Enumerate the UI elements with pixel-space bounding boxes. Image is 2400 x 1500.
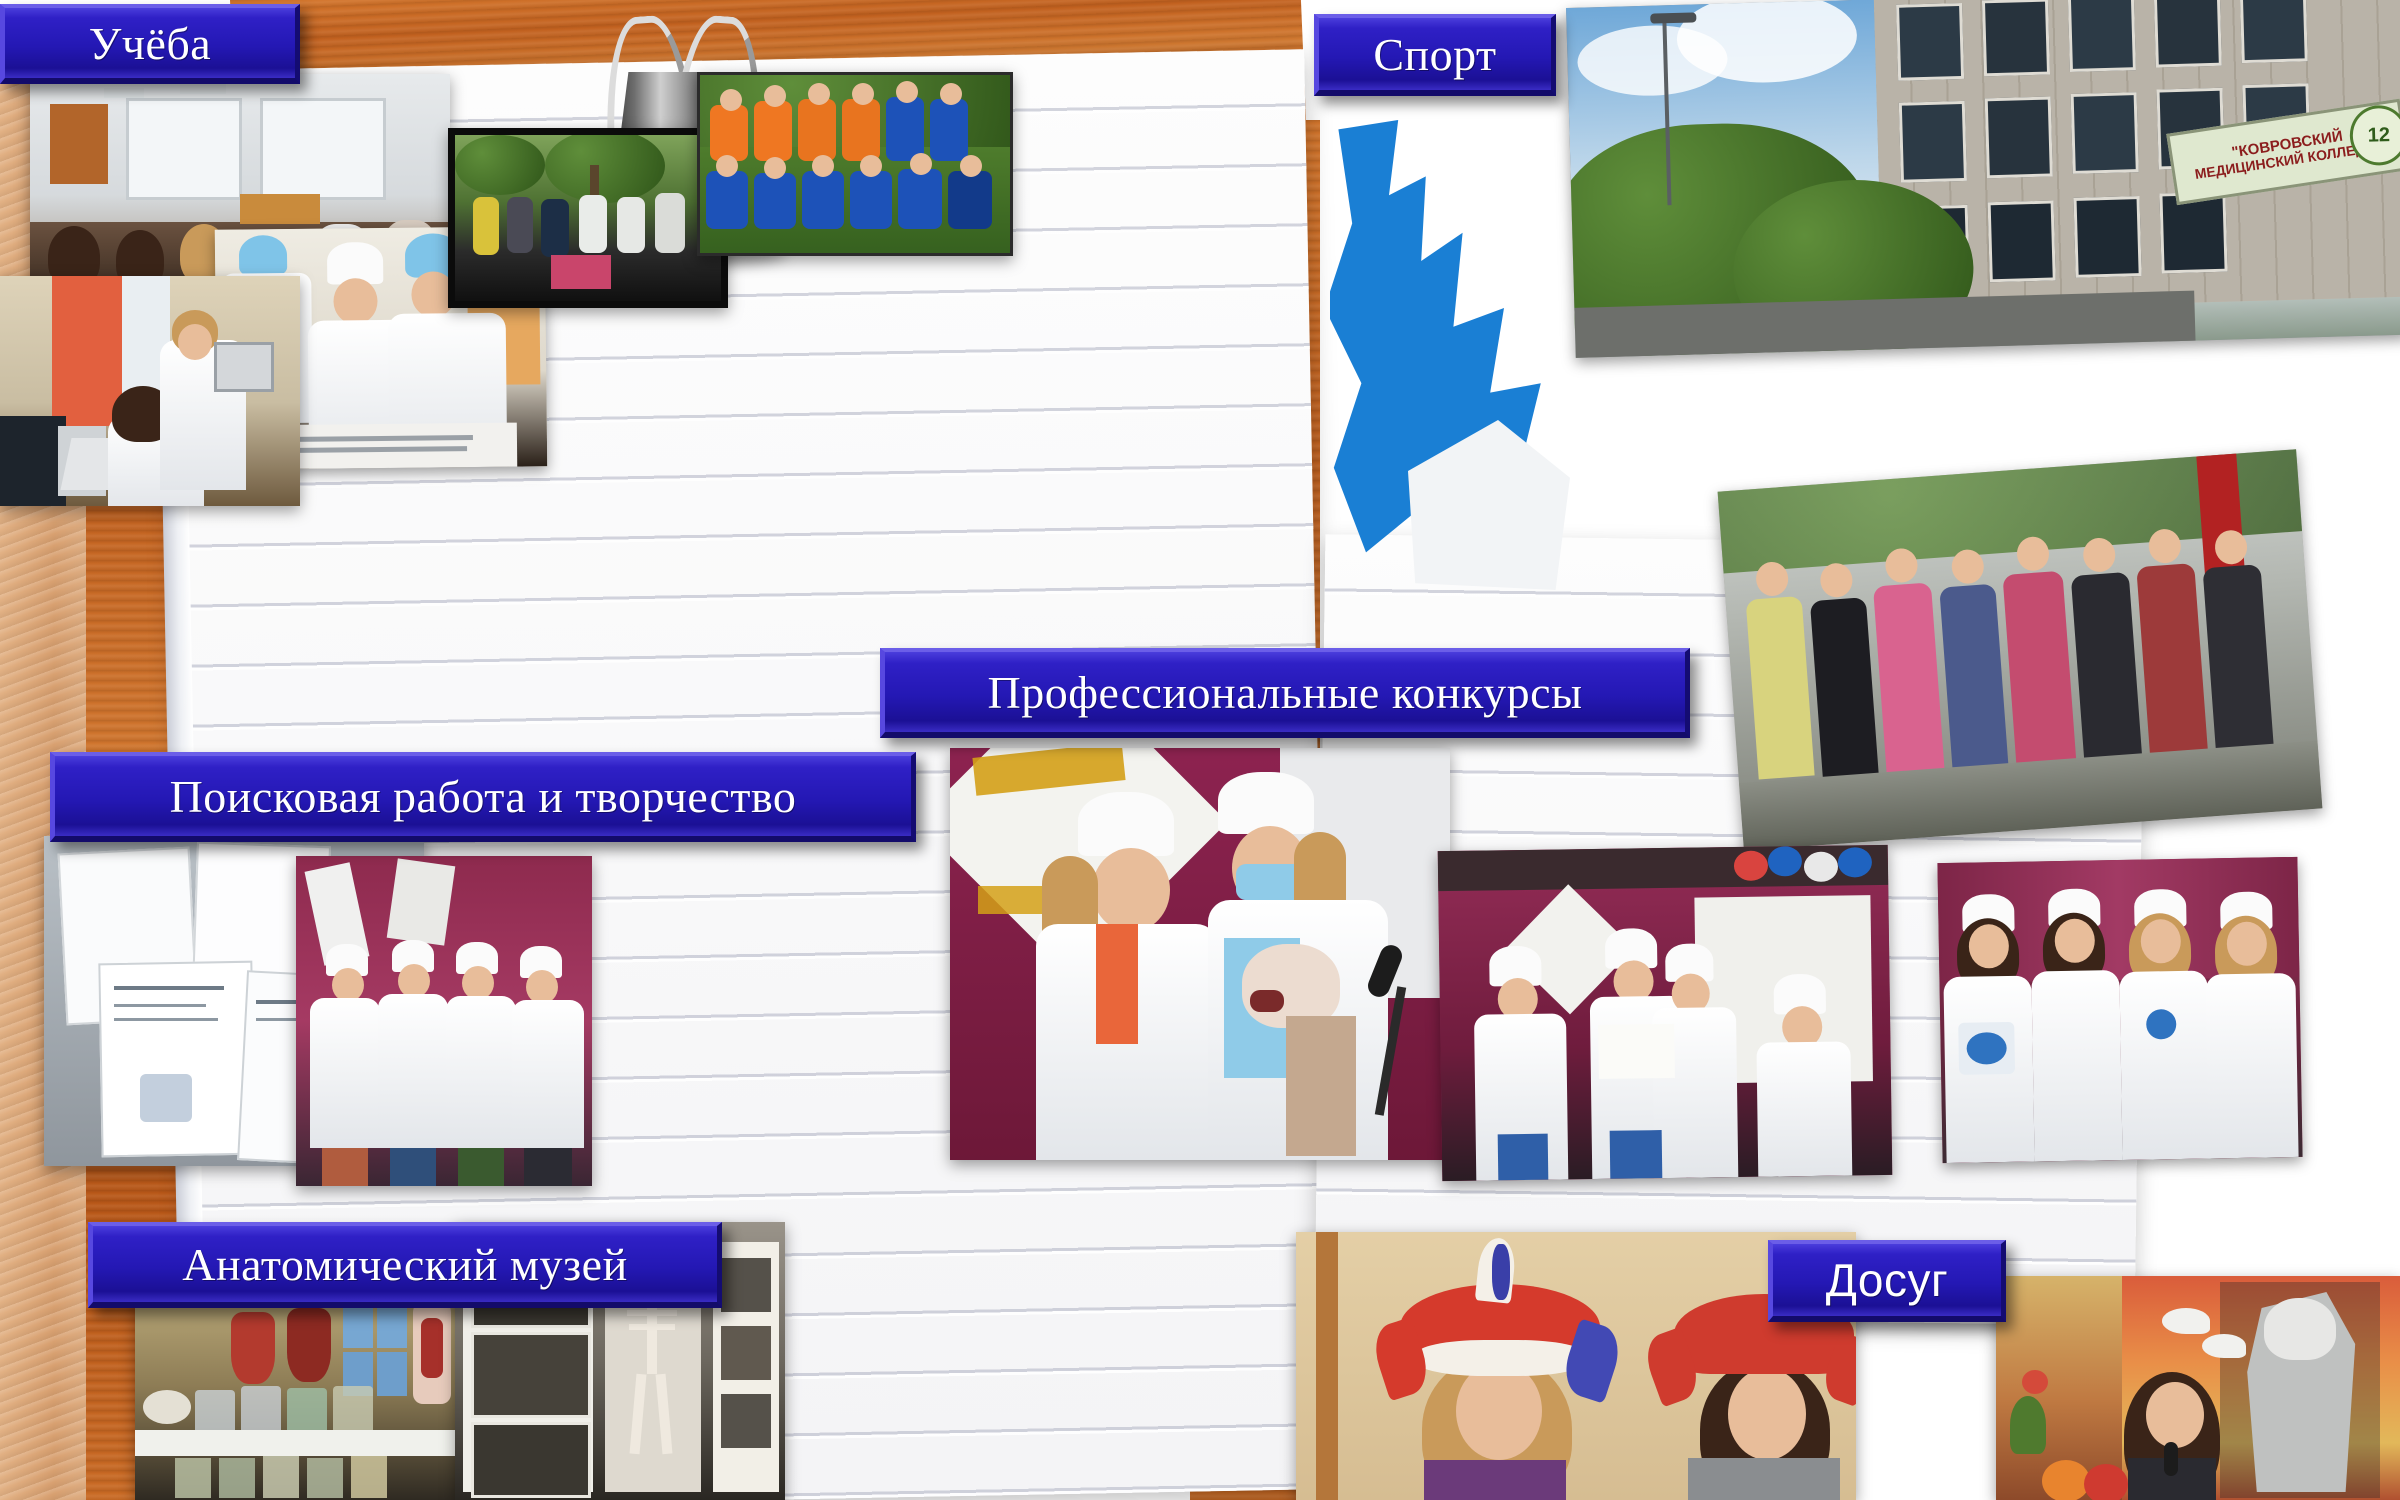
- photo-four-nurses: [1937, 857, 2302, 1163]
- banner-museum-label: Анатомический музей: [182, 1238, 627, 1291]
- banner-research-label: Поисковая работа и творчество: [170, 770, 797, 823]
- banner-competitions[interactable]: Профессиональные конкурсы: [880, 648, 1690, 738]
- banner-museum[interactable]: Анатомический музей: [88, 1222, 722, 1308]
- photo-crowd-outdoor: [1718, 449, 2323, 851]
- banner-sport[interactable]: Спорт: [1314, 14, 1556, 96]
- photo-concert-singer: [1996, 1276, 2400, 1500]
- photo-stage-performance: [1438, 845, 1893, 1181]
- banner-research[interactable]: Поисковая работа и творчество: [50, 752, 916, 842]
- photo-museum-jars: [135, 1294, 455, 1500]
- photo-sport-team: [697, 72, 1013, 256]
- house-number: 12: [2367, 124, 2390, 148]
- banner-sport-label: Спорт: [1373, 28, 1496, 81]
- banner-leisure[interactable]: Досуг: [1768, 1240, 2006, 1322]
- banner-competitions-label: Профессиональные конкурсы: [987, 666, 1582, 719]
- banner-leisure-label: Досуг: [1826, 1253, 1949, 1307]
- photo-hike: [448, 128, 728, 308]
- banner-study-label: Учёба: [89, 17, 211, 70]
- collage-slide: "КОВРОВСКИЙ МЕДИЦИНСКИЙ КОЛЛЕДЖ" 12: [0, 0, 2400, 1500]
- photo-contest-dummy: [950, 748, 1450, 1160]
- photo-computer-room: [0, 276, 300, 506]
- photo-stage-group: [296, 856, 592, 1186]
- photo-college-building: "КОВРОВСКИЙ МЕДИЦИНСКИЙ КОЛЛЕДЖ" 12: [1566, 0, 2400, 358]
- banner-study[interactable]: Учёба: [0, 4, 300, 84]
